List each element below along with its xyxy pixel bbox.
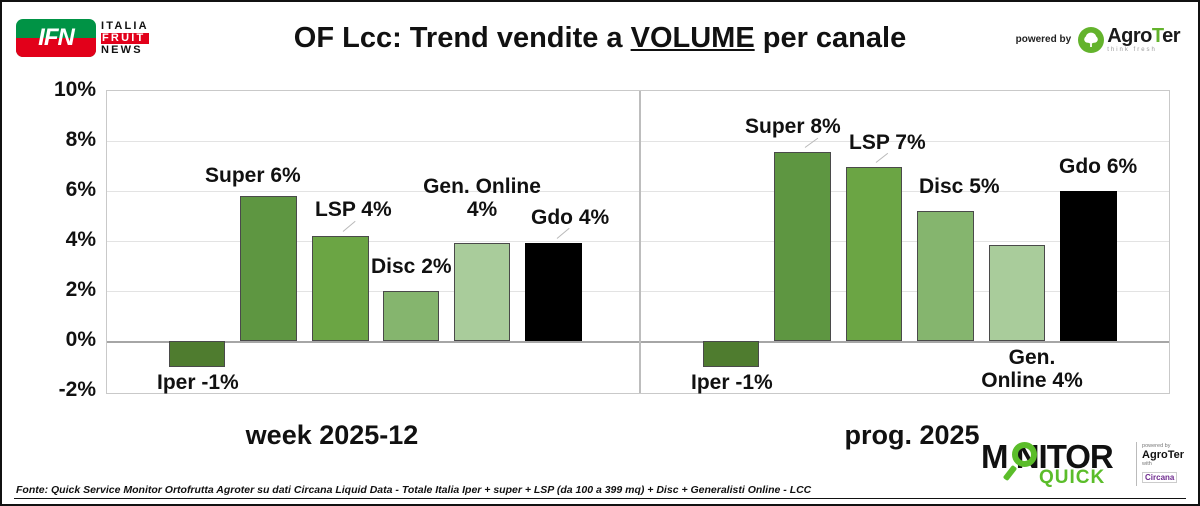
y-tick-0: 0% [66,328,96,352]
bar-gen-online-prog[interactable] [989,245,1045,341]
agroter-name-t: T [1152,25,1162,47]
bar-disc-prog[interactable] [917,211,974,341]
bar-label-super-week: Super 6% [205,165,301,188]
bar-gdo-prog[interactable] [1060,191,1117,341]
source-note: Fonte: Quick Service Monitor Ortofrutta … [16,484,811,496]
chart-area: 10% 8% 6% 4% 2% 0% -2% Iper -1% Super 6% [2,74,1198,432]
bar-lsp-prog[interactable] [846,167,902,341]
circana-logo-label: Circana [1142,472,1177,483]
monitor-quick-mark: M NITOR QUICK [981,440,1131,486]
y-tick-4: 4% [66,228,96,252]
bar-label-gdo-prog: Gdo 6% [1059,156,1137,179]
zero-axis-line [107,341,1169,343]
bar-label-gen-online-week: Gen. Online 4% [417,176,547,221]
slide-header: IFN ITALIA FRUIT NEWS OF Lcc: Trend vend… [2,2,1198,74]
powered-by-label: powered by [1016,34,1072,45]
agroter-wordmark: AgroTer [1107,26,1180,46]
page-title-suffix: per canale [755,22,907,54]
bar-label-gen-online-prog-line1: Gen. [1009,346,1056,369]
y-tick-10: 10% [54,78,96,102]
agroter-logo: AgroTer think fresh [1078,26,1180,53]
magnifier-icon [1012,442,1037,467]
gridline-8 [107,141,1169,142]
powered-by-block: powered by AgroTer think fresh [1016,26,1180,53]
plot-area: Iper -1% Super 6% LSP 4% Disc 2% Gen. On… [106,90,1170,394]
slide-root: IFN ITALIA FRUIT NEWS OF Lcc: Trend vend… [0,0,1200,506]
quick-wordmark: QUICK [1039,468,1105,487]
bar-super-prog[interactable] [774,152,831,341]
bar-gen-online-week[interactable] [454,243,510,341]
y-axis: 10% 8% 6% 4% 2% 0% -2% [2,74,102,404]
y-tick-neg2: -2% [59,378,96,402]
bar-super-week[interactable] [240,196,297,341]
bar-label-gen-online-week-line1: Gen. Online [423,175,541,198]
agroter-tagline: think fresh [1107,47,1180,53]
leader-line-super-prog [805,138,819,148]
monitor-quick-logo: M NITOR QUICK powered by AgroTer with Ci… [981,440,1184,486]
agroter-name-er: er [1162,25,1180,47]
agroter-name-a: Agro [1107,25,1152,47]
leader-line-lsp-week [343,221,356,232]
bar-label-gdo-week: Gdo 4% [531,207,609,230]
bar-label-gen-online-prog: Gen. Online 4% [962,347,1102,392]
panel-divider [639,91,641,393]
y-tick-2: 2% [66,278,96,302]
footer-divider [14,498,1186,499]
bar-label-lsp-prog: LSP 7% [849,132,926,155]
y-tick-8: 8% [66,128,96,152]
bar-label-lsp-week: LSP 4% [315,199,392,222]
bar-label-super-prog: Super 8% [745,116,841,139]
bar-label-iper-week: Iper -1% [157,372,239,395]
monitor-agroter-label: AgroTer [1142,449,1184,461]
tree-icon [1078,27,1104,53]
bar-iper-prog[interactable] [703,341,759,367]
bar-label-iper-prog: Iper -1% [691,372,773,395]
bar-label-disc-prog: Disc 5% [919,176,1000,199]
panel-caption-week: week 2025-12 [182,420,482,451]
monitor-partners: powered by AgroTer with Circana [1136,442,1184,486]
page-title-emphasis: VOLUME [631,22,755,54]
bar-label-disc-week: Disc 2% [371,256,452,279]
bar-disc-week[interactable] [383,291,439,341]
bar-label-gen-online-week-line2: 4% [467,198,497,221]
bar-gdo-week[interactable] [525,243,582,341]
bar-lsp-week[interactable] [312,236,369,341]
page-title-prefix: OF Lcc: Trend vendite a [294,22,631,54]
y-tick-6: 6% [66,178,96,202]
bar-iper-week[interactable] [169,341,225,367]
bar-label-gen-online-prog-line2: Online 4% [981,369,1083,392]
gridline-6 [107,191,1169,192]
